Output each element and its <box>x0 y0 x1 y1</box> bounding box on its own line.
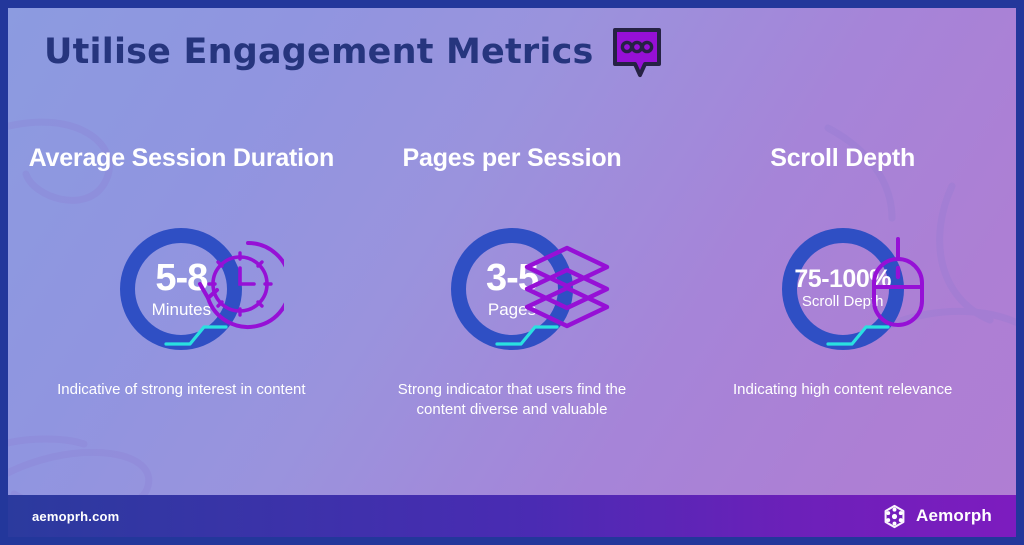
metric-visual: 75-100% Scroll Depth <box>698 228 988 350</box>
clock-refresh-icon <box>188 234 284 338</box>
aemorph-molecule-logo <box>882 504 907 529</box>
infographic-canvas: Utilise Engagement Metrics Average Sessi… <box>8 8 1016 537</box>
metric-visual: 5-8 Minutes <box>36 228 326 350</box>
speech-bubble-icon <box>610 26 664 78</box>
metric-heading: Scroll Depth <box>770 144 915 206</box>
brand-lockup: Aemorph <box>882 504 992 529</box>
page-title: Utilise Engagement Metrics <box>44 32 594 72</box>
metric-heading: Pages per Session <box>403 144 622 206</box>
metric-column-average-session-duration: Average Session Duration 5-8 Minutes <box>16 144 347 420</box>
metrics-columns: Average Session Duration 5-8 Minutes <box>16 144 1008 420</box>
layers-icon <box>519 234 615 338</box>
footer-website-url[interactable]: aemoprh.com <box>32 509 119 524</box>
metric-column-pages-per-session: Pages per Session 3-5 Pages <box>347 144 678 420</box>
metric-visual: 3-5 Pages <box>367 228 657 350</box>
header: Utilise Engagement Metrics <box>44 26 664 78</box>
brand-name: Aemorph <box>916 506 992 526</box>
metric-heading: Average Session Duration <box>29 144 334 206</box>
footer-bar: aemoprh.com Aemorph <box>8 495 1016 537</box>
infographic-card: Utilise Engagement Metrics Average Sessi… <box>0 0 1024 545</box>
metric-caption: Indicating high content relevance <box>733 380 952 400</box>
metric-caption: Strong indicator that users find the con… <box>387 380 637 420</box>
computer-mouse-icon <box>850 234 946 338</box>
metric-column-scroll-depth: Scroll Depth 75-100% Scroll Depth <box>677 144 1008 420</box>
metric-caption: Indicative of strong interest in content <box>57 380 305 400</box>
